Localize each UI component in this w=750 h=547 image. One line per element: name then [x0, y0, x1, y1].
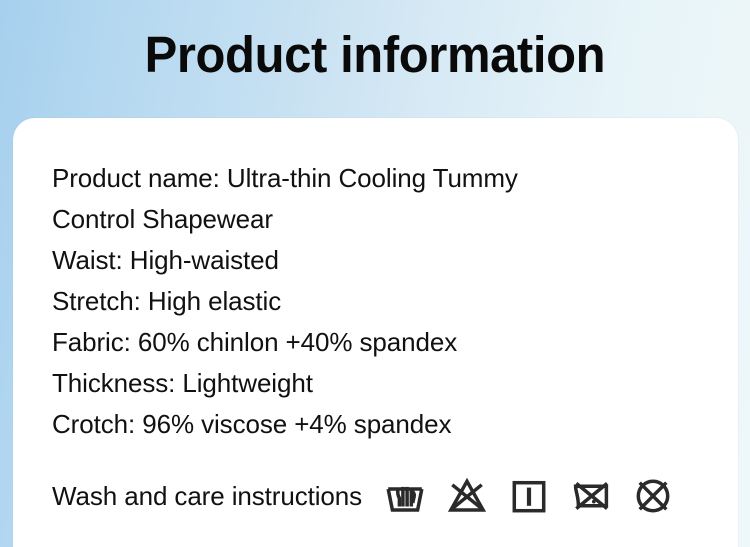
spec-line-stretch: Stretch: High elastic [52, 281, 692, 322]
do-not-dry-clean-icon [632, 475, 674, 517]
hand-wash-icon [384, 475, 426, 517]
spec-line-product-name: Product name: Ultra-thin Cooling Tummy [52, 158, 692, 199]
care-symbols-group [384, 475, 674, 517]
care-instructions-row: Wash and care instructions [52, 468, 712, 524]
product-information-page: Product information Product name: Ultra-… [0, 0, 750, 547]
spec-line-crotch: Crotch: 96% viscose +4% spandex [52, 404, 692, 445]
spec-list: Product name: Ultra-thin Cooling Tummy C… [52, 158, 692, 445]
line-dry-icon [508, 475, 550, 517]
page-title: Product information [145, 29, 606, 80]
do-not-iron-icon [570, 475, 612, 517]
product-info-card: Product name: Ultra-thin Cooling Tummy C… [13, 118, 738, 547]
spec-line-fabric: Fabric: 60% chinlon +40% spandex [52, 322, 692, 363]
spec-line-waist: Waist: High-waisted [52, 240, 692, 281]
care-instructions-label: Wash and care instructions [52, 481, 362, 512]
spec-line-thickness: Thickness: Lightweight [52, 363, 692, 404]
spec-line-product-name-cont: Control Shapewear [52, 199, 692, 240]
do-not-bleach-icon [446, 475, 488, 517]
title-bar: Product information [0, 18, 750, 90]
